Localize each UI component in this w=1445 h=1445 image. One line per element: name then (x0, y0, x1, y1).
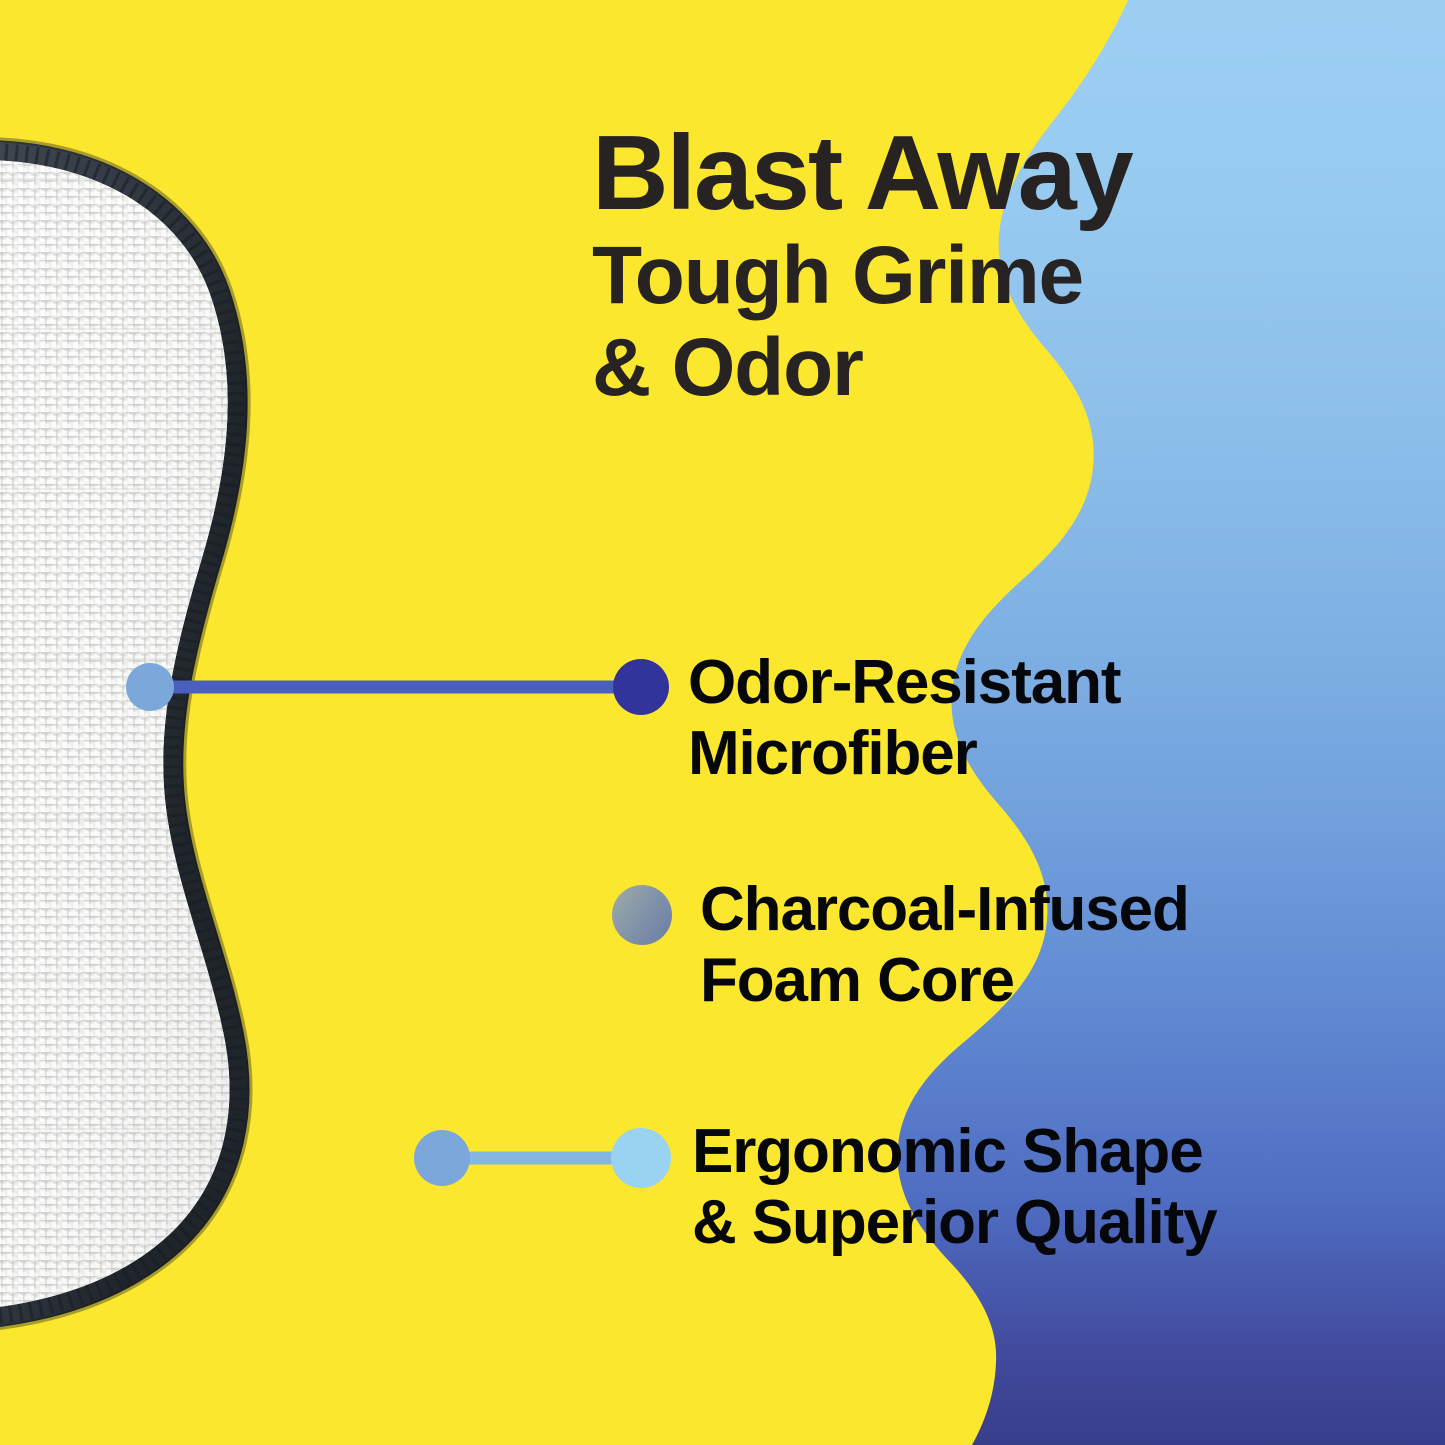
feature-3-line-1: Ergonomic Shape (692, 1117, 1217, 1188)
callout-connector-ergonomic-shape-superior-quality (0, 1118, 700, 1208)
marker-dot-sponge-3 (414, 1130, 470, 1186)
marker-dot-sponge-2 (256, 883, 320, 947)
feature-3-line-2: & Superior Quality (692, 1188, 1217, 1259)
headline-block: Blast Away Tough Grime & Odor (592, 122, 1392, 414)
feature-label-charcoal-infused-foam-core: Charcoal-Infused Foam Core (700, 875, 1189, 1016)
feature-2-line-2: Foam Core (700, 946, 1189, 1017)
product-infographic: Blast Away Tough Grime & Odor Odor-Resis… (0, 0, 1445, 1445)
headline-line-3: & Odor (592, 322, 1392, 414)
callout-connector-charcoal-infused-foam-core (0, 878, 700, 968)
marker-dot-sponge-1 (126, 663, 174, 711)
feature-label-ergonomic-shape-superior-quality: Ergonomic Shape & Superior Quality (692, 1117, 1217, 1258)
headline-line-2: Tough Grime (592, 230, 1392, 322)
marker-dot-label-3 (611, 1128, 671, 1188)
headline-line-1: Blast Away (592, 122, 1392, 226)
marker-dot-label-2 (612, 885, 672, 945)
feature-1-line-1: Odor-Resistant (688, 648, 1120, 719)
callout-connector-odor-resistant-microfiber (0, 650, 700, 740)
feature-label-odor-resistant-microfiber: Odor-Resistant Microfiber (688, 648, 1120, 789)
marker-dot-label-1 (613, 659, 669, 715)
feature-1-line-2: Microfiber (688, 719, 1120, 790)
feature-2-line-1: Charcoal-Infused (700, 875, 1189, 946)
